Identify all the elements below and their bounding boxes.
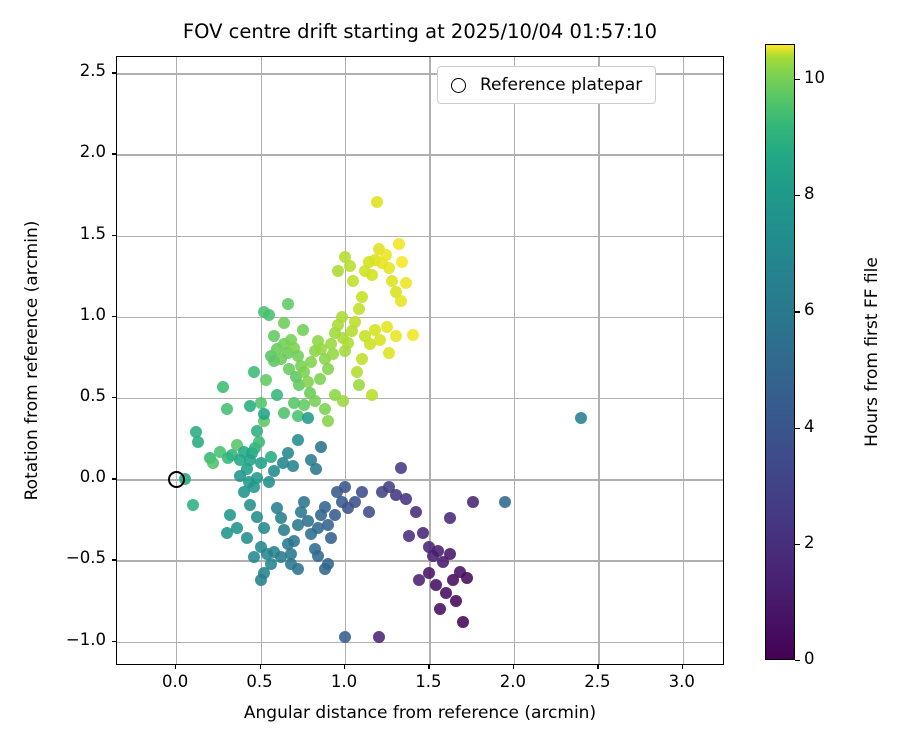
scatter-point — [248, 366, 260, 378]
y-tick — [112, 235, 116, 236]
gridline-vertical — [683, 57, 684, 664]
x-tick-label: 0.5 — [230, 672, 290, 691]
gridline-horizontal — [117, 236, 723, 237]
scatter-point — [400, 277, 412, 289]
scatter-point — [373, 631, 385, 643]
plot-area — [116, 56, 724, 665]
x-tick-label: 1.5 — [398, 672, 458, 691]
x-tick-label: 2.5 — [567, 672, 627, 691]
scatter-point — [217, 381, 229, 393]
scatter-point — [282, 298, 294, 310]
colorbar-tick-label: 8 — [804, 184, 815, 203]
scatter-point — [302, 412, 314, 424]
gridline-vertical — [514, 57, 515, 664]
y-tick-label: 2.0 — [34, 142, 106, 161]
scatter-point — [285, 558, 297, 570]
y-tick-label: 1.0 — [34, 305, 106, 324]
scatter-point — [248, 551, 260, 563]
scatter-point — [263, 309, 275, 321]
scatter-point — [282, 447, 294, 459]
scatter-point — [332, 265, 344, 277]
scatter-point — [356, 291, 368, 303]
x-tick — [682, 665, 683, 669]
scatter-point — [288, 535, 300, 547]
scatter-point — [251, 425, 263, 437]
gridline-vertical — [345, 57, 346, 664]
scatter-canvas — [117, 57, 723, 664]
colorbar-tick-label: 4 — [804, 417, 815, 436]
scatter-point — [349, 496, 361, 508]
scatter-point — [221, 403, 233, 415]
scatter-point — [366, 389, 378, 401]
chart-title: FOV centre drift starting at 2025/10/04 … — [116, 20, 724, 43]
y-tick — [112, 478, 116, 479]
scatter-point — [312, 550, 324, 562]
scatter-point — [339, 251, 351, 263]
scatter-point — [192, 436, 204, 448]
x-tick-label: 1.0 — [314, 672, 374, 691]
scatter-point — [376, 486, 388, 498]
scatter-point — [253, 436, 265, 448]
scatter-point — [383, 347, 395, 359]
scatter-point — [349, 316, 361, 328]
scatter-point — [302, 376, 314, 388]
scatter-point — [403, 530, 415, 542]
x-tick — [344, 665, 345, 669]
x-tick — [260, 665, 261, 669]
x-tick — [513, 665, 514, 669]
legend-marker-reference-platepar — [451, 78, 466, 93]
scatter-point — [314, 373, 326, 385]
scatter-point — [400, 493, 412, 505]
scatter-point — [265, 451, 277, 463]
y-tick — [112, 316, 116, 317]
scatter-point — [339, 631, 351, 643]
scatter-point — [319, 403, 331, 415]
scatter-point — [224, 509, 236, 521]
reference-platepar-marker — [168, 471, 185, 488]
scatter-point — [187, 499, 199, 511]
gridline-horizontal — [117, 154, 723, 155]
gridline-vertical — [598, 57, 599, 664]
colorbar-tick-label: 0 — [804, 649, 815, 668]
scatter-point — [260, 374, 272, 386]
y-tick-label: 1.5 — [34, 224, 106, 243]
scatter-point — [278, 524, 290, 536]
scatter-point — [305, 356, 317, 368]
scatter-point — [417, 527, 429, 539]
scatter-point — [327, 348, 339, 360]
scatter-point — [407, 329, 419, 341]
scatter-point — [434, 603, 446, 615]
gridline-horizontal — [117, 317, 723, 318]
scatter-point — [363, 506, 375, 518]
scatter-point — [268, 465, 280, 477]
scatter-point — [499, 496, 511, 508]
colorbar-tick — [795, 311, 800, 312]
scatter-point — [383, 262, 395, 274]
scatter-point — [207, 457, 219, 469]
scatter-point — [322, 415, 334, 427]
scatter-point — [444, 548, 456, 560]
colorbar — [765, 44, 795, 660]
scatter-point — [393, 238, 405, 250]
scatter-point — [353, 303, 365, 315]
scatter-point — [325, 532, 337, 544]
gridline-vertical — [176, 57, 177, 664]
scatter-point — [444, 512, 456, 524]
scatter-point — [255, 397, 267, 409]
scatter-point — [263, 476, 275, 488]
scatter-point — [319, 563, 331, 575]
y-tick — [112, 397, 116, 398]
x-axis-title: Angular distance from reference (arcmin) — [116, 703, 724, 723]
legend-label-reference-platepar: Reference platepar — [480, 75, 642, 95]
colorbar-tick — [795, 195, 800, 196]
scatter-point — [347, 275, 359, 287]
colorbar-tick — [795, 79, 800, 80]
colorbar-tick-label: 10 — [804, 68, 825, 87]
y-tick — [112, 559, 116, 560]
scatter-point — [386, 275, 398, 287]
y-tick — [112, 153, 116, 154]
scatter-point — [310, 463, 322, 475]
scatter-point — [292, 434, 304, 446]
scatter-point — [255, 574, 267, 586]
colorbar-tick — [795, 428, 800, 429]
y-tick-label: 0.5 — [34, 386, 106, 405]
scatter-point — [287, 460, 299, 472]
scatter-point — [380, 249, 392, 261]
y-tick-label: −0.5 — [34, 548, 106, 567]
scatter-point — [329, 389, 341, 401]
scatter-point — [371, 196, 383, 208]
x-tick-label: 2.0 — [483, 672, 543, 691]
scatter-point — [241, 532, 253, 544]
scatter-point — [258, 522, 270, 534]
scatter-point — [410, 506, 422, 518]
scatter-point — [297, 324, 309, 336]
gridline-horizontal — [117, 560, 723, 561]
y-tick-label: −1.0 — [34, 630, 106, 649]
gridline-horizontal — [117, 398, 723, 399]
scatter-point — [221, 527, 233, 539]
scatter-point — [329, 509, 341, 521]
y-tick-label: 2.5 — [34, 61, 106, 80]
scatter-point — [413, 574, 425, 586]
scatter-point — [244, 499, 256, 511]
colorbar-tick — [795, 660, 800, 661]
scatter-point — [461, 572, 473, 584]
scatter-point — [467, 496, 479, 508]
scatter-point — [315, 441, 327, 453]
x-tick — [597, 665, 598, 669]
y-tick — [112, 641, 116, 642]
y-axis-title: Rotation from reference (arcmin) — [22, 221, 42, 501]
colorbar-tick — [795, 544, 800, 545]
scatter-point — [275, 512, 287, 524]
scatter-point — [298, 496, 310, 508]
scatter-point — [251, 511, 263, 523]
scatter-point — [278, 407, 290, 419]
colorbar-tick-label: 6 — [804, 300, 815, 319]
scatter-point — [336, 311, 348, 323]
scatter-point — [353, 379, 365, 391]
gridline-horizontal — [117, 479, 723, 480]
figure: FOV centre drift starting at 2025/10/04 … — [0, 0, 900, 750]
scatter-point — [251, 472, 263, 484]
scatter-point — [395, 295, 407, 307]
scatter-point — [339, 481, 351, 493]
scatter-point — [238, 486, 250, 498]
colorbar-title: Hours from first FF file — [862, 257, 882, 447]
scatter-point — [395, 462, 407, 474]
scatter-point — [244, 400, 256, 412]
scatter-point — [457, 616, 469, 628]
colorbar-tick-label: 2 — [804, 533, 815, 552]
scatter-point — [450, 595, 462, 607]
scatter-point — [342, 337, 354, 349]
y-tick-label: 0.0 — [34, 467, 106, 486]
scatter-point — [432, 545, 444, 557]
scatter-point — [396, 256, 408, 268]
x-tick-label: 3.0 — [652, 672, 712, 691]
x-tick-label: 0.0 — [145, 672, 205, 691]
scatter-point — [390, 330, 402, 342]
x-tick — [175, 665, 176, 669]
scatter-point — [423, 567, 435, 579]
gridline-horizontal — [117, 642, 723, 643]
scatter-point — [309, 395, 321, 407]
scatter-point — [366, 269, 378, 281]
scatter-point — [351, 366, 363, 378]
scatter-point — [356, 353, 368, 365]
scatter-point — [322, 363, 334, 375]
scatter-point — [356, 486, 368, 498]
legend: Reference platepar — [437, 66, 656, 104]
scatter-point — [374, 334, 386, 346]
y-tick — [112, 72, 116, 73]
scatter-point — [575, 412, 587, 424]
scatter-point — [278, 317, 290, 329]
x-tick — [428, 665, 429, 669]
